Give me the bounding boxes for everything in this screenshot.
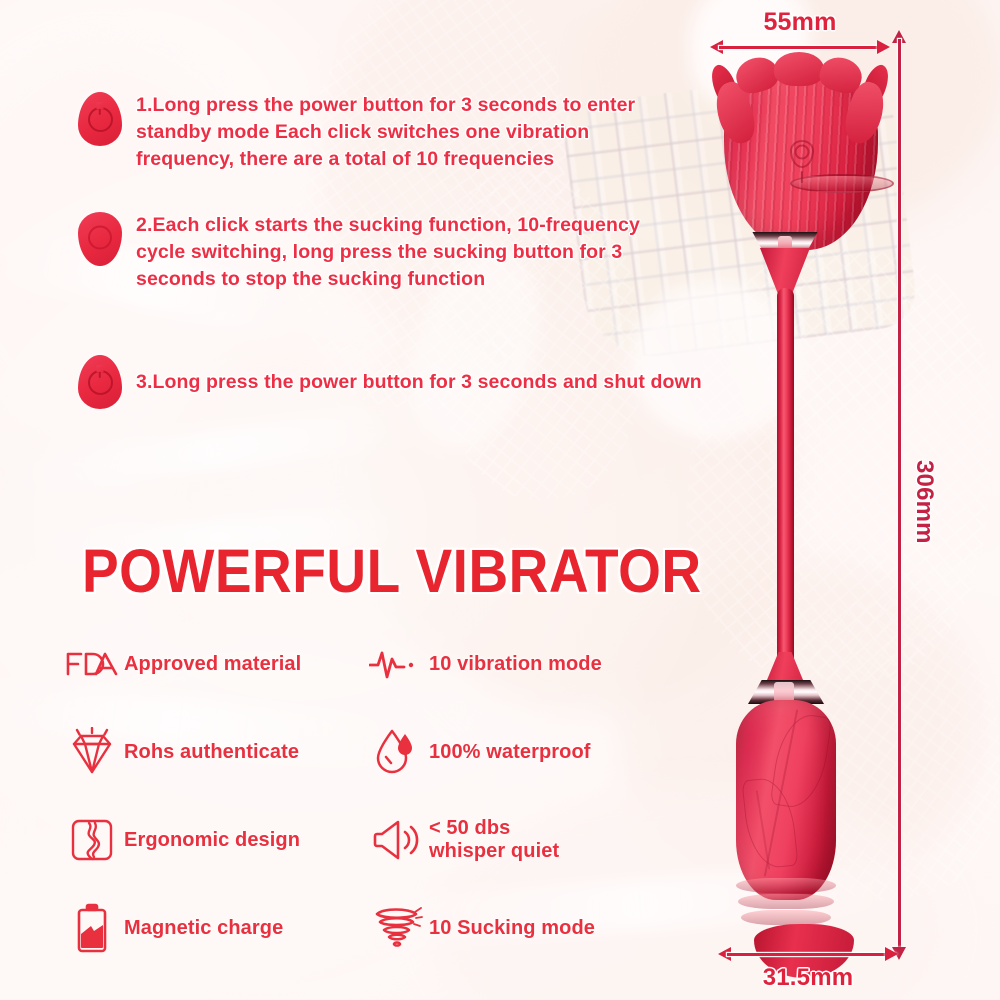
feature-label-line1: < 50 dbs	[429, 817, 510, 839]
speaker-icon	[365, 812, 429, 868]
dimension-label-width-top: 55mm	[710, 8, 890, 37]
feature-item: Rohs authenticate	[60, 708, 390, 796]
feature-label: Magnetic charge	[124, 917, 283, 940]
feature-item: < 50 dbs whisper quiet	[365, 796, 685, 884]
ribbed-rings	[736, 878, 836, 954]
dimension-height-total: 306mm	[884, 30, 944, 960]
instruction-text-2: 2.Each click starts the sucking function…	[136, 212, 661, 293]
feature-item: 10 vibration mode	[365, 620, 685, 708]
chrome-highlight-lower	[774, 682, 794, 702]
feature-item: 10 Sucking mode	[365, 884, 685, 972]
dimension-arrow-horizontal	[710, 40, 890, 54]
vortex-icon	[365, 900, 429, 956]
heartbeat-icon	[365, 636, 429, 692]
dimension-arrow-vertical	[892, 30, 906, 960]
feature-column-right: 10 vibration mode 100% waterproof	[365, 620, 685, 972]
fda-icon	[60, 636, 124, 692]
suction-pin-icon	[78, 212, 122, 266]
ergonomic-icon	[60, 812, 124, 868]
connecting-rod	[777, 288, 794, 676]
page-title: POWERFUL VIBRATOR	[82, 536, 702, 605]
dimension-width-bottom: 31.5mm	[718, 944, 898, 992]
feature-item: 100% waterproof	[365, 708, 685, 796]
product-image	[700, 40, 910, 960]
feature-label: Approved material	[124, 653, 301, 676]
diamond-icon	[60, 724, 124, 780]
feature-column-left: Approved material Rohs authenticate	[60, 620, 390, 972]
feature-label: < 50 dbs whisper quiet	[429, 817, 559, 863]
dimension-width-top: 55mm	[710, 8, 890, 54]
battery-icon	[60, 900, 124, 956]
power-drop-icon	[78, 355, 122, 409]
instruction-text-3: 3.Long press the power button for 3 seco…	[136, 369, 661, 396]
feature-label: 10 Sucking mode	[429, 917, 595, 940]
instruction-item-3: 3.Long press the power button for 3 seco…	[78, 355, 661, 409]
power-drop-icon	[78, 92, 122, 146]
feature-label: Ergonomic design	[124, 829, 300, 852]
feature-label-line2: whisper quiet	[429, 840, 559, 863]
dimension-label-height: 306mm	[910, 460, 938, 544]
product-infographic: 1.Long press the power button for 3 seco…	[0, 0, 1000, 1000]
water-drop-icon	[365, 724, 429, 780]
instruction-text-1: 1.Long press the power button for 3 seco…	[136, 92, 661, 173]
bullet-body	[736, 700, 836, 900]
sucking-button[interactable]	[790, 140, 814, 168]
rose-head	[716, 52, 886, 257]
dimension-arrow-horizontal	[718, 947, 898, 961]
instruction-item-2: 2.Each click starts the sucking function…	[78, 212, 661, 293]
feature-item: Approved material	[60, 620, 390, 708]
feature-label: 10 vibration mode	[429, 653, 602, 676]
power-button[interactable]	[790, 174, 814, 198]
dimension-label-width-bottom: 31.5mm	[718, 964, 898, 992]
feature-item: Ergonomic design	[60, 796, 390, 884]
feature-label: Rohs authenticate	[124, 741, 299, 764]
instruction-item-1: 1.Long press the power button for 3 seco…	[78, 92, 661, 173]
feature-item: Magnetic charge	[60, 884, 390, 972]
feature-label: 100% waterproof	[429, 741, 591, 764]
